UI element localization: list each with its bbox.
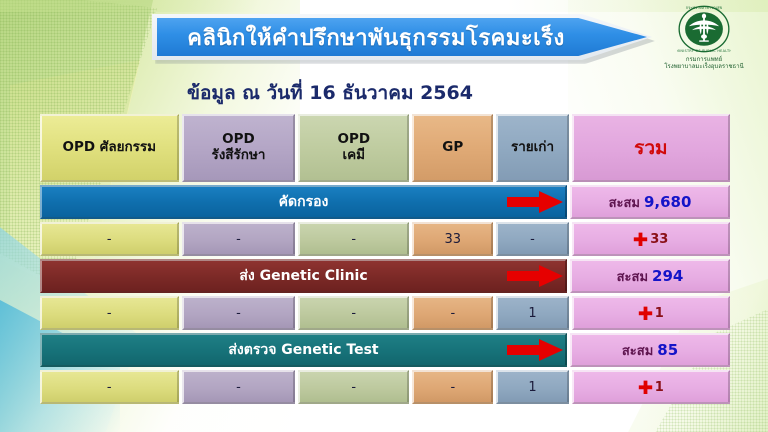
title-banner-fill: คลินิกให้คำปรึกษาพันธุกรรมโรคมะเร็ง: [157, 18, 647, 56]
cell-opd-chemotherapy: -: [298, 222, 409, 256]
column-header-label: รายเก่า: [511, 140, 554, 156]
cell-opd-chemotherapy: -: [298, 370, 409, 404]
page-title: คลินิกให้คำปรึกษาพันธุกรรมโรคมะเร็ง: [187, 20, 565, 55]
cell-value: 1: [528, 306, 536, 321]
total-value: 33: [650, 232, 668, 247]
red-cross-icon: [638, 306, 653, 321]
table-band-row-genetic-test: ส่งตรวจ Genetic Test สะสม 85: [40, 333, 730, 367]
band-label-genetic-test: ส่งตรวจ Genetic Test: [40, 333, 567, 367]
band-label: ส่งตรวจ Genetic Test: [228, 339, 378, 361]
cell-opd-radiotherapy: -: [182, 222, 296, 256]
column-header-total: รวม: [572, 114, 730, 182]
cell-value: -: [236, 232, 241, 247]
total-value: 1: [655, 380, 664, 395]
total-cell-genetic-test: สะสม 85: [570, 333, 730, 367]
cell-existing-cases: 1: [496, 296, 568, 330]
column-header-label: รวม: [634, 137, 667, 159]
cell-opd-surgery: -: [40, 370, 179, 404]
column-header-opd-radiotherapy: OPD รังสีรักษา: [182, 114, 296, 182]
cell-gp: -: [412, 296, 493, 330]
cell-opd-surgery: -: [40, 222, 179, 256]
title-banner: คลินิกให้คำปรึกษาพันธุกรรมโรคมะเร็ง: [152, 14, 652, 60]
logo-caption-hospital: โรงพยาบาลมะเร็งอุบลราชธานี: [644, 64, 764, 70]
column-header-existing-cases: รายเก่า: [496, 114, 568, 182]
cell-gp: -: [412, 370, 493, 404]
cell-total: 1: [572, 296, 730, 330]
band-label-screening: คัดกรอง: [40, 185, 567, 219]
column-header-gp: GP: [412, 114, 493, 182]
ministry-logo: กระทรวงสาธารณสุข MINISTRY OF PUBLIC HEAL…: [644, 2, 764, 70]
red-cross-icon: [638, 380, 653, 395]
cell-value: 33: [445, 232, 462, 247]
cell-gp: 33: [412, 222, 493, 256]
accumulated-label: สะสม: [622, 340, 653, 361]
table-band-row-genetic-clinic: ส่ง Genetic Clinic สะสม 294: [40, 259, 730, 293]
column-header-opd-chemotherapy: OPD เคมี: [298, 114, 409, 182]
cell-value: -: [236, 380, 241, 395]
column-header-label: OPD ศัลยกรรม: [62, 140, 156, 156]
cell-opd-chemotherapy: -: [298, 296, 409, 330]
column-header-label-line1: OPD: [337, 132, 370, 148]
column-header-opd-surgery: OPD ศัลยกรรม: [40, 114, 179, 182]
cell-value: -: [450, 306, 455, 321]
red-cross-icon: [633, 232, 648, 247]
table-row: - - - - 1 1: [40, 296, 730, 330]
total-value: 1: [655, 306, 664, 321]
accumulated-value: 294: [652, 267, 683, 285]
cell-value: 1: [528, 380, 536, 395]
band-label: คัดกรอง: [279, 191, 329, 213]
cell-value: -: [351, 380, 356, 395]
cell-value: -: [236, 306, 241, 321]
statistics-table: OPD ศัลยกรรม OPD รังสีรักษา OPD เคมี GP …: [40, 114, 730, 407]
cell-value: -: [107, 306, 112, 321]
ministry-of-public-health-seal-icon: กระทรวงสาธารณสุข MINISTRY OF PUBLIC HEAL…: [677, 2, 731, 56]
cell-opd-surgery: -: [40, 296, 179, 330]
cell-opd-radiotherapy: -: [182, 370, 296, 404]
column-header-label-line2: เคมี: [343, 148, 366, 164]
accumulated-value: 9,680: [644, 193, 691, 211]
presentation-slide: กระทรวงสาธารณสุข MINISTRY OF PUBLIC HEAL…: [0, 0, 768, 432]
cell-value: -: [107, 232, 112, 247]
table-row: - - - - 1 1: [40, 370, 730, 404]
right-arrow-icon: [507, 191, 563, 213]
band-label-genetic-clinic: ส่ง Genetic Clinic: [40, 259, 567, 293]
cell-total: 33: [572, 222, 730, 256]
cell-value: -: [351, 306, 356, 321]
data-as-of-date: ข้อมูล ณ วันที่ 16 ธันวาคม 2564: [0, 78, 660, 108]
total-cell-screening: สะสม 9,680: [570, 185, 730, 219]
cell-value: -: [450, 380, 455, 395]
accumulated-value: 85: [657, 341, 678, 359]
right-arrow-icon: [507, 265, 563, 287]
column-header-label-line1: OPD: [222, 132, 255, 148]
cell-value: -: [351, 232, 356, 247]
svg-text:MINISTRY OF PUBLIC HEALTH: MINISTRY OF PUBLIC HEALTH: [677, 49, 731, 53]
table-header-row: OPD ศัลยกรรม OPD รังสีรักษา OPD เคมี GP …: [40, 114, 730, 182]
accumulated-label: สะสม: [617, 266, 648, 287]
table-row: - - - 33 - 33: [40, 222, 730, 256]
cell-value: -: [107, 380, 112, 395]
cell-value: -: [530, 232, 535, 247]
cell-opd-radiotherapy: -: [182, 296, 296, 330]
accumulated-label: สะสม: [609, 192, 640, 213]
cell-existing-cases: -: [496, 222, 568, 256]
cell-total: 1: [572, 370, 730, 404]
column-header-label-line2: รังสีรักษา: [211, 148, 265, 164]
right-arrow-icon: [507, 339, 563, 361]
table-band-row-screening: คัดกรอง สะสม 9,680: [40, 185, 730, 219]
cell-existing-cases: 1: [496, 370, 568, 404]
column-header-label: GP: [442, 140, 463, 156]
band-label: ส่ง Genetic Clinic: [239, 265, 367, 287]
total-cell-genetic-clinic: สะสม 294: [570, 259, 730, 293]
